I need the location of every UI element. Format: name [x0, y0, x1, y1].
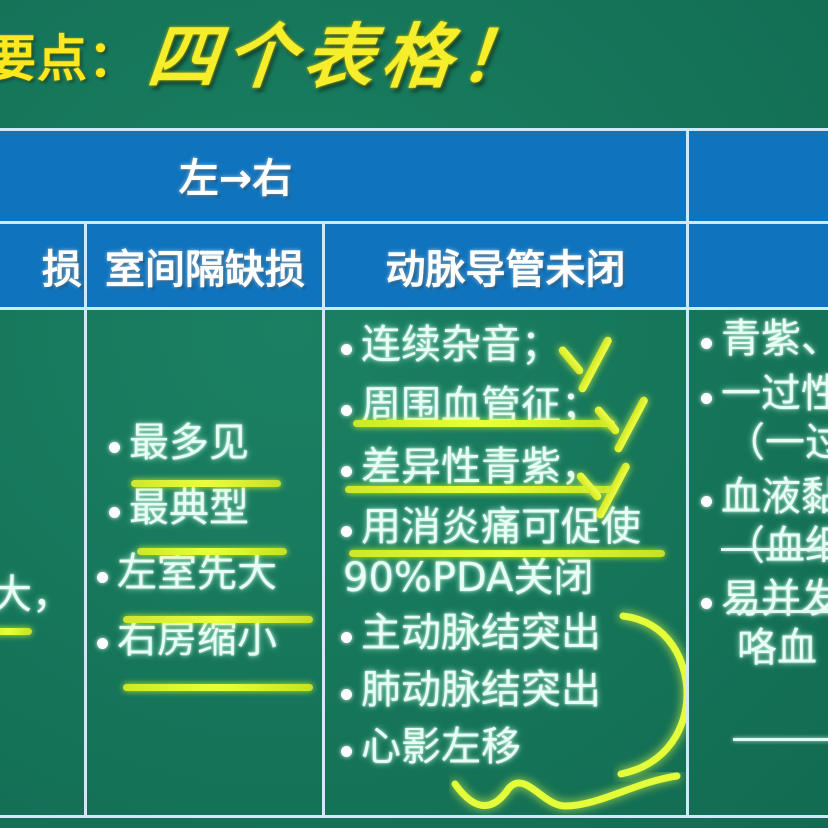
list-item: 咯血: [733, 625, 828, 672]
check-mark-icon: [569, 450, 679, 512]
list-item: （一过: [721, 420, 828, 467]
check-mark-icon: [551, 324, 661, 386]
chalk-underline-yellow: [349, 550, 665, 557]
slide-background: 要点： 四个表格！ 左→右 损 室间隔缺损 动脉导管未闭 大，: [0, 0, 828, 828]
list-item: 心影左移: [339, 724, 641, 771]
title-main-text: 四个表格！: [144, 22, 541, 92]
cell-right-partial: 青紫、 一过性 （一过 血液黏 （血细 易并发 咯血: [689, 310, 828, 815]
right-bullet-list: 青紫、 一过性 （一过 血液黏 （血细 易并发 咯血: [699, 316, 828, 672]
group-header-right-empty: [689, 128, 828, 222]
chalk-underline-yellow: [137, 548, 287, 555]
list-item: 最典型: [107, 485, 277, 532]
table-header-divider: [0, 221, 828, 224]
chalk-squiggle: [449, 772, 686, 815]
vsd-bullet-list: 最多见 最典型 左室先大 右房缩小: [107, 420, 277, 663]
cell-pda: 连续杂音； 周围血管征； 差异性青紫， 用消炎痛可促使 90%PDA关闭 主动脉…: [325, 310, 686, 815]
chalk-underline-white: [721, 548, 828, 551]
title-prefix-text: 要点：: [0, 34, 139, 84]
list-item: 主动脉结突出: [339, 610, 641, 657]
list-item: 一过性: [699, 371, 828, 418]
group-header-left-to-right: 左→右: [85, 128, 686, 222]
list-item: 左室先大: [95, 550, 277, 597]
chalk-underline-yellow: [123, 616, 313, 623]
table-bottom-border: [0, 815, 828, 818]
chalk-underline-white: [733, 738, 828, 741]
list-item: 血液黏: [699, 474, 828, 521]
chalk-underline-white: [729, 610, 828, 613]
list-item: 大，: [0, 572, 72, 619]
chalk-underline-yellow: [353, 420, 615, 427]
column-header-pda: 动脉导管未闭: [325, 224, 686, 307]
comparison-table: 左→右 损 室间隔缺损 动脉导管未闭 大， 最多见: [0, 128, 828, 816]
table-column-header-row: 损 室间隔缺损 动脉导管未闭: [0, 224, 828, 307]
chalk-underline-yellow: [0, 628, 32, 635]
chalk-underline-yellow: [131, 480, 281, 487]
cell-vsd: 最多见 最典型 左室先大 右房缩小: [87, 310, 322, 815]
column-header-vsd: 室间隔缺损: [88, 224, 322, 307]
list-item: 肺动脉结突出: [339, 667, 641, 714]
list-item: 90%PDA关闭: [339, 555, 641, 602]
slide-title-band: 要点： 四个表格！: [0, 0, 828, 128]
list-item: 最多见: [107, 420, 277, 467]
column-header-asd-partial: 损: [0, 224, 82, 307]
list-item: 青紫、: [699, 316, 828, 363]
grouping-brace-icon: [613, 602, 686, 782]
list-item: 易并发: [699, 576, 828, 623]
table-group-header-row: 左→右: [0, 128, 828, 222]
column-header-right-partial: [689, 224, 828, 307]
cell-asd-partial: 大，: [0, 310, 84, 815]
list-item: （血细: [721, 523, 828, 570]
check-mark-icon: [587, 384, 686, 446]
chalk-underline-yellow: [123, 684, 313, 691]
table-top-border: [0, 128, 828, 131]
